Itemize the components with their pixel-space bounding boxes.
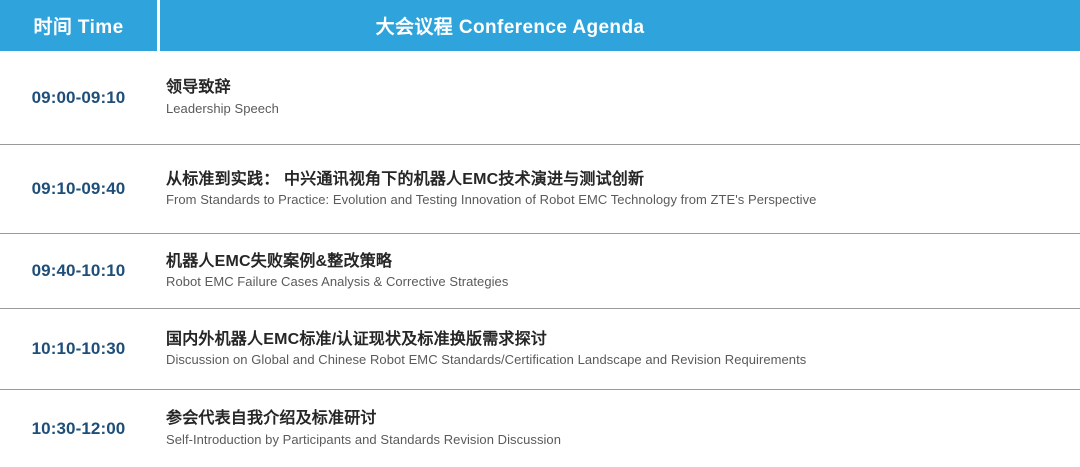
row-content-cell: 从标准到实践： 中兴通讯视角下的机器人EMC技术演进与测试创新 From Sta…: [157, 169, 1080, 209]
conference-agenda-table: 时间 Time 大会议程 Conference Agenda 09:00-09:…: [0, 0, 1080, 467]
header-cell-agenda: 大会议程 Conference Agenda: [160, 0, 1080, 51]
agenda-table-body: 09:00-09:10 领导致辞 Leadership Speech 09:10…: [0, 51, 1080, 467]
agenda-table-header: 时间 Time 大会议程 Conference Agenda: [0, 0, 1080, 51]
header-cell-time: 时间 Time: [0, 0, 157, 51]
session-title-cn: 领导致辞: [166, 77, 1080, 99]
header-label-agenda: 大会议程 Conference Agenda: [376, 12, 645, 39]
row-time-cell: 10:30-12:00: [0, 419, 157, 439]
session-title-en: Robot EMC Failure Cases Analysis & Corre…: [166, 274, 1080, 291]
session-title-cn: 机器人EMC失败案例&整改策略: [166, 251, 1080, 273]
row-content-cell: 机器人EMC失败案例&整改策略 Robot EMC Failure Cases …: [157, 251, 1080, 291]
header-label-time: 时间 Time: [33, 12, 123, 39]
row-content-cell: 参会代表自我介绍及标准研讨 Self-Introduction by Parti…: [157, 408, 1080, 448]
session-title-cn: 参会代表自我介绍及标准研讨: [166, 408, 1080, 430]
table-row: 09:00-09:10 领导致辞 Leadership Speech: [0, 51, 1080, 145]
session-title-en: Self-Introduction by Participants and St…: [166, 432, 1080, 449]
row-time-cell: 09:00-09:10: [0, 88, 157, 108]
session-title-en: From Standards to Practice: Evolution an…: [166, 192, 1080, 209]
session-title-en: Discussion on Global and Chinese Robot E…: [166, 352, 1080, 369]
row-content-cell: 国内外机器人EMC标准/认证现状及标准换版需求探讨 Discussion on …: [157, 329, 1080, 369]
session-title-cn: 国内外机器人EMC标准/认证现状及标准换版需求探讨: [166, 329, 1080, 351]
session-title-cn: 从标准到实践： 中兴通讯视角下的机器人EMC技术演进与测试创新: [166, 169, 1080, 191]
row-time-cell: 09:10-09:40: [0, 179, 157, 199]
session-title-en: Leadership Speech: [166, 101, 1080, 118]
row-content-cell: 领导致辞 Leadership Speech: [157, 77, 1080, 117]
table-row: 09:10-09:40 从标准到实践： 中兴通讯视角下的机器人EMC技术演进与测…: [0, 145, 1080, 234]
table-row: 09:40-10:10 机器人EMC失败案例&整改策略 Robot EMC Fa…: [0, 234, 1080, 309]
table-row: 10:30-12:00 参会代表自我介绍及标准研讨 Self-Introduct…: [0, 390, 1080, 467]
table-row: 10:10-10:30 国内外机器人EMC标准/认证现状及标准换版需求探讨 Di…: [0, 309, 1080, 390]
row-time-cell: 10:10-10:30: [0, 339, 157, 359]
row-time-cell: 09:40-10:10: [0, 261, 157, 281]
